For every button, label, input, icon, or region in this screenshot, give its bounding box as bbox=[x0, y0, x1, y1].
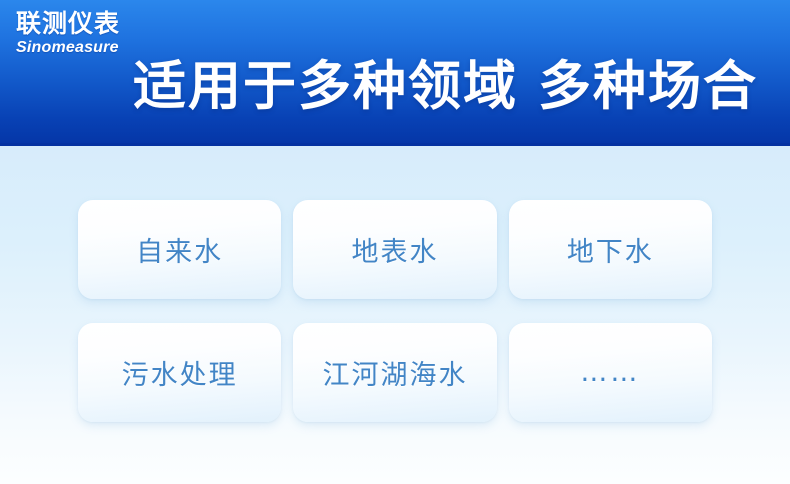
application-card-river-lake-sea-water[interactable]: 江河湖海水 bbox=[293, 323, 496, 422]
brand-logo: 联测仪表 Sinomeasure bbox=[16, 11, 120, 56]
card-label-ellipsis: …… bbox=[580, 357, 640, 388]
banner-header: 联测仪表 Sinomeasure 适用于多种领域多种场合 bbox=[0, 0, 790, 146]
banner-body: 自来水 地表水 地下水 污水处理 江河湖海水 …… bbox=[0, 146, 790, 484]
application-card-more[interactable]: …… bbox=[509, 323, 712, 422]
application-card-sewage-treatment[interactable]: 污水处理 bbox=[78, 323, 281, 422]
application-card-ground-water[interactable]: 地下水 bbox=[509, 200, 712, 299]
page-title: 适用于多种领域多种场合 bbox=[133, 44, 758, 120]
card-label: 自来水 bbox=[136, 230, 223, 269]
page-title-part-1: 适用于多种领域 bbox=[133, 56, 518, 117]
card-label: 地下水 bbox=[567, 230, 654, 269]
promo-banner: 联测仪表 Sinomeasure 适用于多种领域多种场合 自来水 地表水 地下水… bbox=[0, 0, 790, 484]
application-card-grid: 自来水 地表水 地下水 污水处理 江河湖海水 …… bbox=[78, 200, 712, 422]
application-card-tap-water[interactable]: 自来水 bbox=[78, 200, 281, 299]
card-label: 江河湖海水 bbox=[322, 353, 467, 392]
page-title-part-2: 多种场合 bbox=[538, 56, 758, 117]
application-card-surface-water[interactable]: 地表水 bbox=[293, 200, 496, 299]
card-label: 污水处理 bbox=[122, 353, 238, 392]
brand-logo-latin: Sinomeasure bbox=[16, 40, 119, 56]
brand-logo-chinese: 联测仪表 bbox=[16, 11, 120, 36]
card-label: 地表水 bbox=[351, 230, 438, 269]
